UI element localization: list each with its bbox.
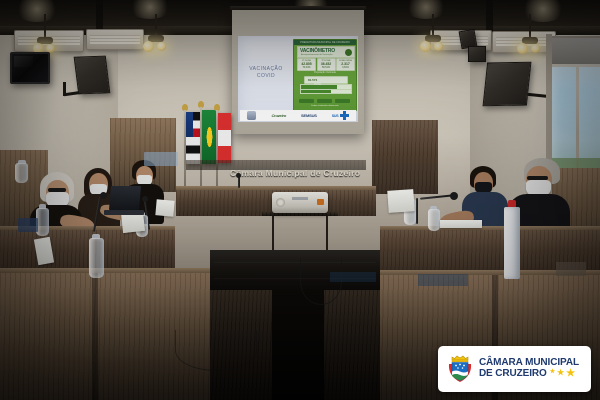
slide-title: VACINAÇÃO COVID (242, 66, 290, 81)
air-conditioner (86, 29, 144, 50)
dashboard-button[interactable] (299, 99, 314, 103)
wall-speaker (74, 56, 111, 95)
star-icon: ★ (566, 369, 575, 379)
left-desk-front (0, 230, 175, 272)
stat-percent: 59,51% (318, 66, 335, 69)
sao-paulo-state-flag (186, 112, 201, 164)
watermark-logo: CÂMARA MUNICIPAL DE CRUZEIRO ★ ★ ★ (438, 346, 591, 392)
cruzeiro-logo-label: Cruzeiro (271, 113, 286, 118)
projection-screen: VACINAÇÃO COVID PREFEITURA MUNICIPAL DE … (232, 10, 364, 134)
desk-seam (92, 273, 98, 400)
table-leg (326, 216, 328, 250)
progress-bar (300, 89, 352, 95)
papers (155, 199, 174, 217)
dashboard-section-label: População Vacinada (297, 71, 353, 75)
star-icon: ★ (557, 369, 564, 379)
watermark-line-2: DE CRUZEIRO (479, 369, 547, 380)
desk-monitor (330, 272, 376, 282)
microphone-stem (416, 198, 418, 224)
back-cabinet (372, 120, 438, 194)
projected-slide: VACINAÇÃO COVID PREFEITURA MUNICIPAL DE … (238, 36, 358, 122)
watermark-stars: ★ ★ ★ (550, 369, 575, 379)
light-bulb (143, 41, 154, 52)
laptop[interactable] (109, 186, 141, 210)
wall-plaque (144, 152, 178, 166)
progress-bar-fill (301, 90, 331, 94)
light-bulb (420, 41, 431, 52)
microphone-head (236, 173, 241, 178)
watermark-text: CÂMARA MUNICIPAL DE CRUZEIRO ★ ★ ★ (479, 358, 579, 380)
pendant-light-rod (44, 14, 46, 38)
microphone-head (142, 196, 148, 202)
papers (387, 189, 414, 213)
sus-cross-icon (340, 111, 349, 120)
star-icon: ★ (550, 369, 555, 379)
light-bulb (434, 42, 443, 51)
light-bulb (517, 43, 528, 54)
papers (440, 220, 482, 228)
dashboard-subtitle: Acompanhamento da Vacinação (301, 54, 332, 56)
dashboard-footer-note: Dados atualizados diariamente (297, 105, 353, 107)
pendant-light-rod (432, 14, 434, 36)
light-bulb (531, 44, 540, 53)
desk-monitor (18, 218, 38, 232)
microphone-head (100, 192, 107, 199)
wall-speaker (483, 62, 532, 107)
water-bottle (89, 238, 104, 278)
stat-card: 2ª DOSE 36.452 59,51% (317, 58, 336, 71)
desk-monitor (418, 274, 468, 286)
progress-readout: 81.574 (304, 76, 348, 84)
table-leg (272, 216, 274, 250)
floor-cable (175, 330, 257, 371)
water-bottle (428, 209, 440, 231)
wall-monitor (10, 52, 50, 84)
progress-label: TOTAL (314, 83, 321, 86)
stat-card: 1ª DOSE 42.805 70,04% (297, 58, 316, 71)
stat-percent: 70,04% (298, 66, 315, 69)
progress-value: 81.574 (308, 78, 317, 82)
projector-indicator (317, 199, 324, 205)
hand-sanitizer-bottle (504, 207, 520, 279)
projector-lens (276, 198, 285, 207)
sus-logo-label: SUS (332, 114, 339, 118)
vacinometro-dashboard: PREFEITURA MUNICIPAL DE CRUZEIRO VACINÔM… (293, 39, 357, 111)
cruzeiro-coat-of-arms-icon (447, 354, 473, 384)
pendant-light-rod (529, 14, 531, 38)
speaker-bracket (63, 82, 66, 96)
prefeitura-seal-icon (247, 111, 256, 120)
floor (210, 250, 380, 290)
ceiling-speaker (468, 46, 486, 62)
dashboard-brand-bar: VACINÔMETRO Acompanhamento da Vacinação (297, 46, 355, 58)
water-bottle (15, 163, 28, 183)
photo-scene: VACINAÇÃO COVID PREFEITURA MUNICIPAL DE … (0, 0, 600, 400)
ceiling-beam-vertical (486, 0, 493, 34)
dashboard-button[interactable] (317, 99, 332, 103)
light-bulb (157, 42, 166, 51)
pendant-light-rod (155, 14, 157, 36)
folder-stack (556, 262, 586, 276)
microphone-head (450, 192, 458, 200)
projector (272, 192, 328, 213)
cruzeiro-municipal-flag (218, 113, 231, 163)
dashboard-badge-icon (345, 49, 352, 56)
dashboard-button[interactable] (335, 99, 350, 103)
dais-back-panel (186, 160, 366, 170)
dashboard-header-strip: PREFEITURA MUNICIPAL DE CRUZEIRO (294, 40, 356, 45)
slide-footer-logos: Cruzeiro SEMSUS SUS (240, 110, 356, 121)
laptop-base[interactable] (104, 210, 144, 215)
semsus-logo-label: SEMSUS (301, 113, 317, 118)
brazil-national-flag (202, 110, 217, 164)
stat-card: DOSE ÚNICA 2.317 3,81% (336, 58, 355, 71)
stat-percent: 3,81% (337, 66, 354, 69)
